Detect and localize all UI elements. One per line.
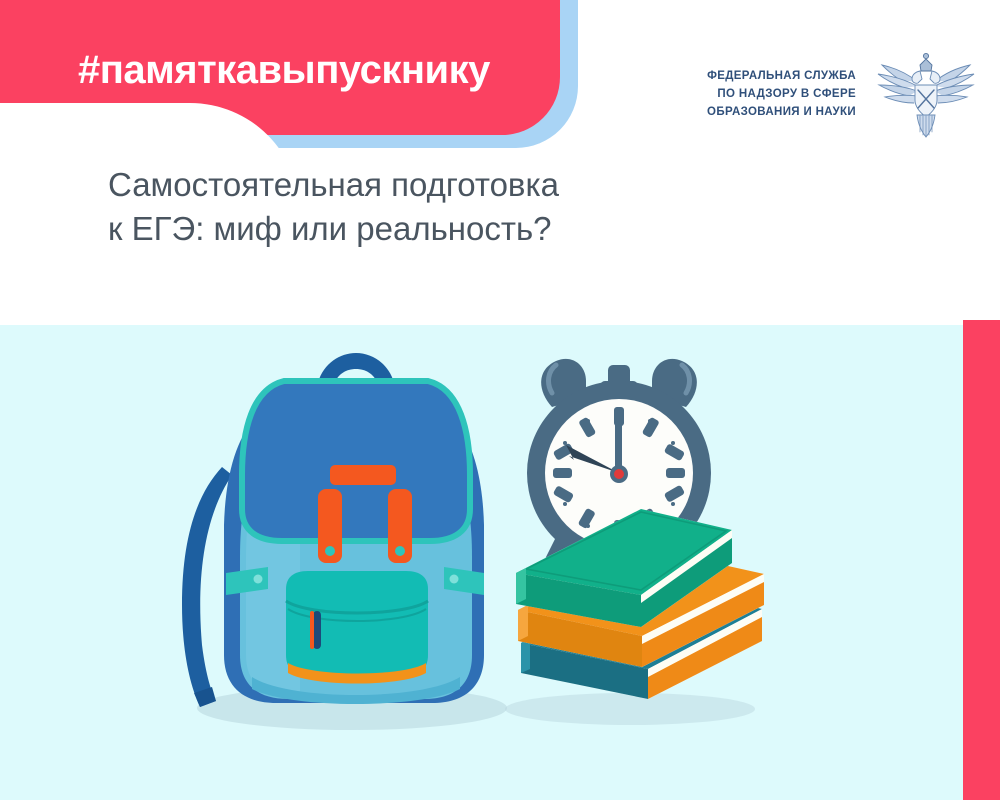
backpack-zipper-pull xyxy=(313,611,321,649)
header: #памяткавыпускнику ФЕДЕРАЛЬНАЯ СЛУЖБА ПО… xyxy=(0,0,1000,325)
rosobrnadzor-logo: ФЕДЕРАЛЬНАЯ СЛУЖБА ПО НАДЗОРУ В СФЕРЕ ОБ… xyxy=(707,52,982,138)
logo-line-2: ПО НАДЗОРУ В СФЕРЕ xyxy=(707,86,856,104)
double-headed-eagle-icon xyxy=(870,52,982,138)
logo-line-3: ОБРАЗОВАНИЯ И НАУКИ xyxy=(707,104,856,122)
hashtag-label: #памяткавыпускнику xyxy=(78,48,490,93)
illustration-artwork xyxy=(0,325,963,800)
backpack-flap xyxy=(242,381,470,541)
backpack-illustration xyxy=(182,353,484,707)
logo-text-block: ФЕДЕРАЛЬНАЯ СЛУЖБА ПО НАДЗОРУ В СФЕРЕ ОБ… xyxy=(707,68,856,121)
logo-line-1: ФЕДЕРАЛЬНАЯ СЛУЖБА xyxy=(707,68,856,86)
backpack-flap-tag xyxy=(330,465,396,485)
illustration-panel xyxy=(0,325,963,800)
right-accent-bar xyxy=(963,320,1000,800)
books-shadow xyxy=(505,693,755,725)
poster-canvas: #памяткавыпускнику ФЕДЕРАЛЬНАЯ СЛУЖБА ПО… xyxy=(0,0,1000,800)
backpack-front-pocket xyxy=(286,571,428,675)
page-title: Самостоятельная подготовка к ЕГЭ: миф ил… xyxy=(108,163,848,251)
book-stack-illustration xyxy=(516,509,764,699)
